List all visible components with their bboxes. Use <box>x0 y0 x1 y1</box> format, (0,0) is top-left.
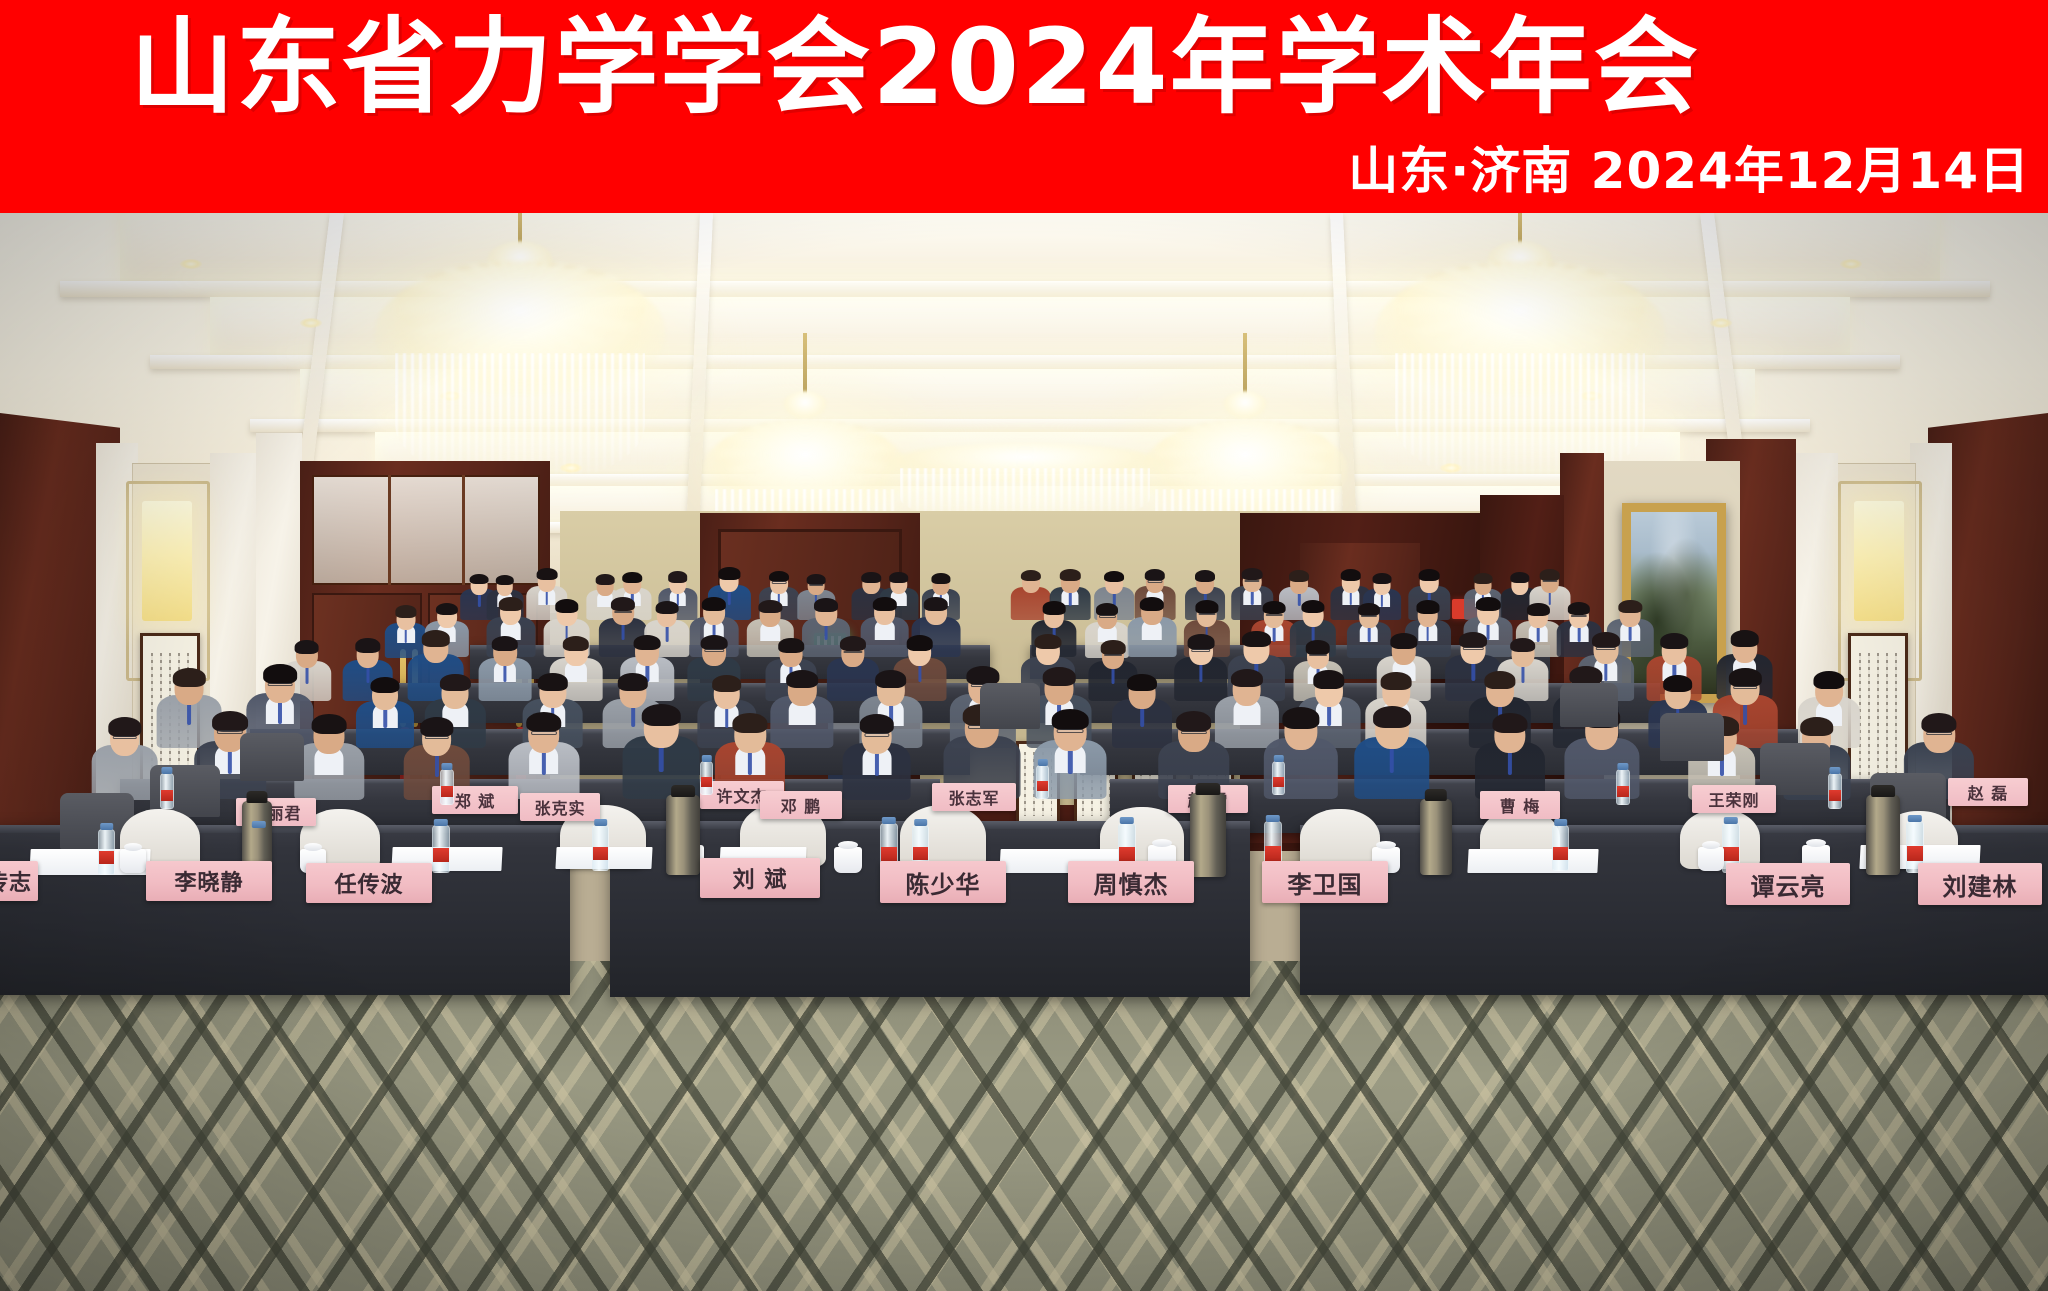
conference-photo: 山东省力学学会2024年学术年会 山东·济南 2024年12月14日 <box>0 0 2048 1291</box>
audience-hair <box>1814 671 1845 689</box>
audience-hair <box>642 704 681 726</box>
eyeglasses <box>704 649 724 652</box>
audience-hair <box>526 712 562 733</box>
eyeglasses <box>1596 647 1616 650</box>
downlight <box>180 259 202 269</box>
audience-hair <box>312 714 347 734</box>
audience-hair <box>1373 706 1411 728</box>
eyeglasses <box>1057 729 1084 733</box>
audience-hair <box>555 599 578 613</box>
audience-hair <box>496 575 514 586</box>
audience-hair <box>1416 600 1439 613</box>
audience-hair <box>420 717 453 736</box>
bottle-cap <box>434 819 448 826</box>
bottle-cap <box>914 819 928 826</box>
audience-hair <box>1663 675 1693 692</box>
audience-hair <box>1043 667 1076 686</box>
audience-hair <box>611 597 635 611</box>
audience-hair <box>807 574 826 585</box>
audience-hair <box>1476 597 1501 611</box>
thermos-cap <box>1871 785 1895 797</box>
water-bottle <box>1272 761 1285 795</box>
audience-hair <box>1661 633 1689 649</box>
audience-hair <box>861 572 881 583</box>
name-card: 李卫国 <box>1262 861 1388 903</box>
audience-hair <box>889 572 909 583</box>
audience-hair <box>1484 671 1515 689</box>
audience-hair <box>623 572 643 583</box>
audience-hair <box>173 668 205 687</box>
audience-hair <box>932 573 951 584</box>
eyeglasses <box>1361 615 1377 617</box>
audience-hair <box>712 675 742 692</box>
bottle-cap <box>1273 755 1283 762</box>
left-transom-mullion <box>462 475 465 585</box>
water-bottle <box>160 773 174 809</box>
audience-hair <box>563 636 589 651</box>
name-card-secondary: 王荣刚 <box>1692 785 1776 813</box>
eyeglasses <box>1104 654 1122 657</box>
eyeglasses <box>268 683 293 687</box>
name-card: 李晓静 <box>146 861 272 901</box>
name-card: 任传波 <box>306 863 432 903</box>
audience-hair <box>1305 640 1330 654</box>
audience-hair <box>1060 569 1080 581</box>
audience-hair <box>1101 640 1126 654</box>
audience-hair <box>769 571 789 583</box>
eyeglasses <box>1309 654 1327 657</box>
audience-hair <box>1301 600 1324 613</box>
audience-hair <box>668 571 688 582</box>
water-bottle <box>700 761 713 795</box>
audience-hair <box>634 635 661 650</box>
water-bottle <box>1616 769 1630 805</box>
name-card-secondary: 邓 鹏 <box>760 791 842 819</box>
audience-hair <box>492 636 518 651</box>
audience-hair <box>1231 669 1263 688</box>
audience-hair <box>498 597 523 611</box>
thermos-cap <box>1195 783 1220 795</box>
thermos-flask <box>1190 793 1226 877</box>
chair <box>1300 809 1380 869</box>
audience-hair <box>1527 603 1549 616</box>
eyeglasses <box>1147 580 1162 582</box>
eyeglasses <box>772 581 787 583</box>
audience-hair <box>1263 601 1286 614</box>
eyeglasses <box>1181 731 1207 735</box>
audience-hair <box>1381 672 1412 690</box>
tea-cup <box>120 849 146 873</box>
left-transom-glass <box>312 475 540 585</box>
bottle-cap <box>1829 767 1840 774</box>
audience-hair <box>1289 570 1309 582</box>
thermos-cap <box>671 785 695 797</box>
audience-hair <box>371 677 400 694</box>
document-paper <box>1467 849 1598 873</box>
audience-hair <box>1372 573 1391 584</box>
carpet <box>0 961 2048 1291</box>
audience-hair <box>618 673 648 691</box>
banner-subtitle: 山东·济南 2024年12月14日 <box>1348 144 2030 199</box>
audience-hair <box>1492 713 1527 733</box>
audience-hair <box>1568 602 1590 615</box>
name-card: 刘建林 <box>1918 863 2042 905</box>
audience-hair <box>1510 638 1536 653</box>
audience-hair <box>1730 630 1759 646</box>
downlight <box>1840 259 1862 269</box>
eyeglasses <box>1463 647 1483 650</box>
audience-member <box>508 710 579 805</box>
water-bottle <box>1828 773 1842 809</box>
tea-cup <box>1698 847 1724 871</box>
chandelier <box>350 213 690 503</box>
water-bottle <box>592 825 609 871</box>
audience-hair <box>786 670 818 688</box>
bottle-cap <box>1617 763 1628 770</box>
name-card: 陈少华 <box>880 861 1006 903</box>
audience-hair <box>1729 668 1761 687</box>
name-card: 刘 斌 <box>700 858 820 898</box>
audience-member <box>91 716 158 805</box>
water-bottle <box>98 829 115 875</box>
bottle-cap <box>441 763 452 770</box>
audience-hair <box>436 603 458 616</box>
audience-hair <box>1242 568 1263 580</box>
thermos-flask <box>1420 799 1452 875</box>
eyeglasses <box>1099 615 1115 617</box>
audience-hair <box>1195 570 1215 582</box>
eyeglasses <box>1244 580 1259 582</box>
audience-hair <box>1242 631 1270 647</box>
audience-hair <box>355 638 380 653</box>
audience-hair <box>1020 570 1040 582</box>
audience-hair <box>537 673 567 691</box>
audience-hair <box>1187 634 1214 650</box>
bottle-cap <box>882 817 896 824</box>
audience-hair <box>1419 569 1440 581</box>
audience-hair <box>1104 571 1124 583</box>
bottle-cap <box>100 823 114 830</box>
audience-hair <box>421 630 449 646</box>
eyeglasses <box>1542 580 1557 582</box>
conference-chair <box>1660 713 1724 761</box>
audience-hair <box>1096 603 1118 616</box>
water-bottle <box>1036 765 1049 799</box>
audience-hair <box>395 605 416 617</box>
audience-hair <box>263 664 297 683</box>
audience-hair <box>212 711 248 732</box>
audience-hair <box>1140 597 1164 611</box>
eyeglasses <box>809 584 823 586</box>
audience-hair <box>719 567 740 579</box>
bottle-cap <box>1120 817 1134 824</box>
name-card-secondary: 张克实 <box>520 793 600 821</box>
bottle-cap <box>1554 819 1568 826</box>
right-sconce <box>1854 501 1904 621</box>
left-transom-mullion <box>388 475 391 585</box>
thermos-flask <box>666 795 700 875</box>
chandelier <box>1350 213 1690 503</box>
bottle-cap <box>161 767 172 774</box>
banquet-hall-scene: 李晓静任传波刘 斌陈少华周慎杰李卫国谭云亮刘建林李传志 郑 斌许文杰张克实邓 鹏… <box>0 213 2048 1291</box>
audience-hair <box>1922 713 1957 733</box>
conference-chair <box>980 683 1040 729</box>
bottle-cap <box>594 819 608 826</box>
audience-hair <box>1176 711 1212 732</box>
eyeglasses <box>843 651 862 654</box>
audience-hair <box>759 600 782 613</box>
bottle-cap <box>1266 815 1280 822</box>
audience-hair <box>1592 632 1620 648</box>
water-bottle <box>1552 825 1569 871</box>
audience-member <box>294 712 363 805</box>
conference-chair <box>240 733 304 781</box>
audience-hair <box>108 717 141 736</box>
water-bottle <box>432 825 450 873</box>
audience-hair <box>1127 674 1157 691</box>
audience-hair <box>1358 603 1380 616</box>
audience-hair <box>702 597 726 611</box>
name-card: 周慎杰 <box>1068 861 1194 903</box>
audience-hair <box>1800 717 1834 736</box>
audience-hair <box>814 598 838 612</box>
audience-hair <box>1034 634 1061 650</box>
tea-cup <box>834 847 862 873</box>
audience-hair <box>536 568 557 580</box>
eyeglasses <box>112 736 136 740</box>
name-card-secondary: 曹 梅 <box>1480 791 1560 819</box>
audience-hair <box>1473 573 1492 584</box>
audience-hair <box>596 574 615 585</box>
audience-hair <box>923 597 948 611</box>
audience-hair <box>1282 707 1319 729</box>
water-bottle <box>440 769 454 805</box>
audience-hair <box>840 636 866 651</box>
eyeglasses <box>531 731 557 735</box>
eyeglasses <box>424 736 448 740</box>
eyeglasses <box>1926 732 1952 736</box>
name-card-partial: 李传志 <box>0 861 38 901</box>
event-banner: 山东省力学学会2024年学术年会 山东·济南 2024年12月14日 <box>0 0 2048 213</box>
audience-member <box>1354 704 1429 805</box>
eyeglasses <box>1733 686 1757 689</box>
thermos-cap <box>247 791 268 803</box>
banner-title: 山东省力学学会2024年学术年会 <box>0 14 1830 120</box>
eyeglasses <box>864 733 889 737</box>
audience-hair <box>1459 632 1487 648</box>
audience-member <box>842 713 911 805</box>
audience-hair <box>1145 569 1165 581</box>
conference-chair <box>1560 683 1618 727</box>
name-card-secondary: 张志军 <box>932 783 1016 811</box>
carpet-pattern <box>0 961 2048 1291</box>
bottle-cap <box>1037 759 1047 766</box>
audience-hair <box>1052 709 1089 730</box>
audience-hair <box>701 635 728 650</box>
thermos-cap <box>1425 789 1447 801</box>
audience-hair <box>1510 572 1529 583</box>
eyeglasses <box>217 730 243 734</box>
audience-hair <box>1313 670 1344 688</box>
name-card-secondary: 赵 磊 <box>1948 778 2028 806</box>
audience-hair <box>875 670 907 688</box>
eyeglasses <box>1571 615 1587 617</box>
audience-hair <box>294 640 319 654</box>
audience-hair <box>1619 600 1642 613</box>
bottle-cap <box>1908 815 1922 822</box>
thermos-flask <box>1866 795 1900 875</box>
eyeglasses <box>1191 649 1211 652</box>
audience-hair <box>1341 569 1362 581</box>
name-card: 谭云亮 <box>1726 863 1850 905</box>
audience-hair <box>778 638 804 653</box>
bottle-cap <box>701 755 711 762</box>
audience-hair <box>440 674 470 691</box>
audience-hair <box>1390 633 1417 649</box>
left-sconce <box>142 501 192 621</box>
eyeglasses <box>614 611 632 614</box>
audience-hair <box>859 714 893 734</box>
audience-hair <box>655 601 678 614</box>
audience-hair <box>1042 601 1065 614</box>
audience-hair <box>733 713 768 733</box>
bottle-cap <box>252 821 266 828</box>
audience-hair <box>1195 600 1218 613</box>
audience-hair <box>906 635 933 650</box>
audience-hair <box>872 597 896 611</box>
bottle-cap <box>1724 817 1738 824</box>
audience-hair <box>1539 569 1560 581</box>
